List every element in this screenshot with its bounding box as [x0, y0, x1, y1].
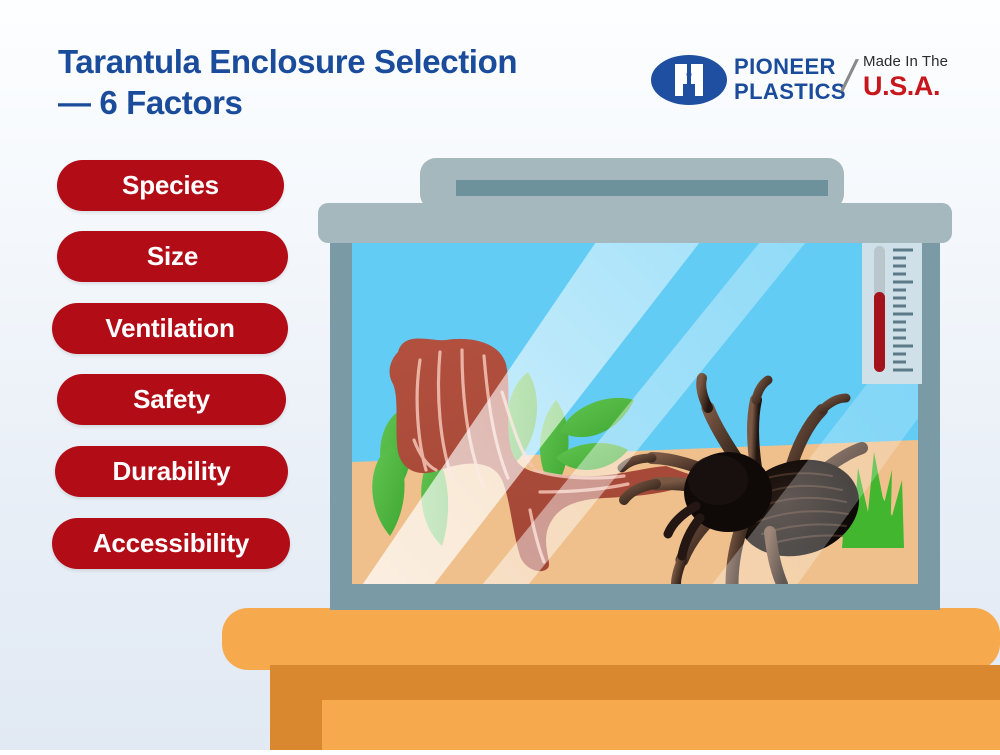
- factor-pill-label: Safety: [133, 384, 210, 415]
- factor-pill-label: Size: [147, 241, 198, 272]
- factor-pill-size[interactable]: Size: [57, 231, 288, 282]
- lid-rim: [318, 203, 952, 243]
- logo-usa: U.S.A.: [863, 71, 940, 102]
- header: Tarantula Enclosure Selection — 6 Factor…: [0, 0, 1000, 140]
- factor-pill-ventilation[interactable]: Ventilation: [52, 303, 288, 354]
- table-top: [222, 608, 1000, 670]
- table-front: [322, 700, 1000, 750]
- terrarium: [318, 158, 952, 610]
- factor-pill-label: Ventilation: [105, 313, 234, 344]
- page-title: Tarantula Enclosure Selection — 6 Factor…: [58, 42, 658, 124]
- factor-pill-accessibility[interactable]: Accessibility: [52, 518, 290, 569]
- thermometer: [862, 232, 922, 384]
- factor-pill-durability[interactable]: Durability: [55, 446, 288, 497]
- thermometer-mercury: [874, 292, 885, 372]
- terrarium-glass: [352, 242, 918, 600]
- factor-pill-safety[interactable]: Safety: [57, 374, 286, 425]
- terrarium-lid: [318, 158, 952, 243]
- pioneer-plastics-emblem-icon: [650, 54, 728, 106]
- logo-wordmark: PIONEER PLASTICS: [734, 55, 846, 104]
- lid-handle-slot: [456, 180, 828, 196]
- factor-pill-label: Species: [122, 170, 219, 201]
- factor-pill-species[interactable]: Species: [57, 160, 284, 211]
- table: [222, 608, 1000, 750]
- thermometer-panel: [862, 232, 922, 384]
- logo-made-in-the: Made In The: [863, 53, 948, 70]
- factor-pill-label: Accessibility: [93, 528, 249, 559]
- factor-pill-label: Durability: [113, 456, 231, 487]
- brand-logo[interactable]: PIONEER PLASTICS / Made In The U.S.A.: [650, 50, 960, 112]
